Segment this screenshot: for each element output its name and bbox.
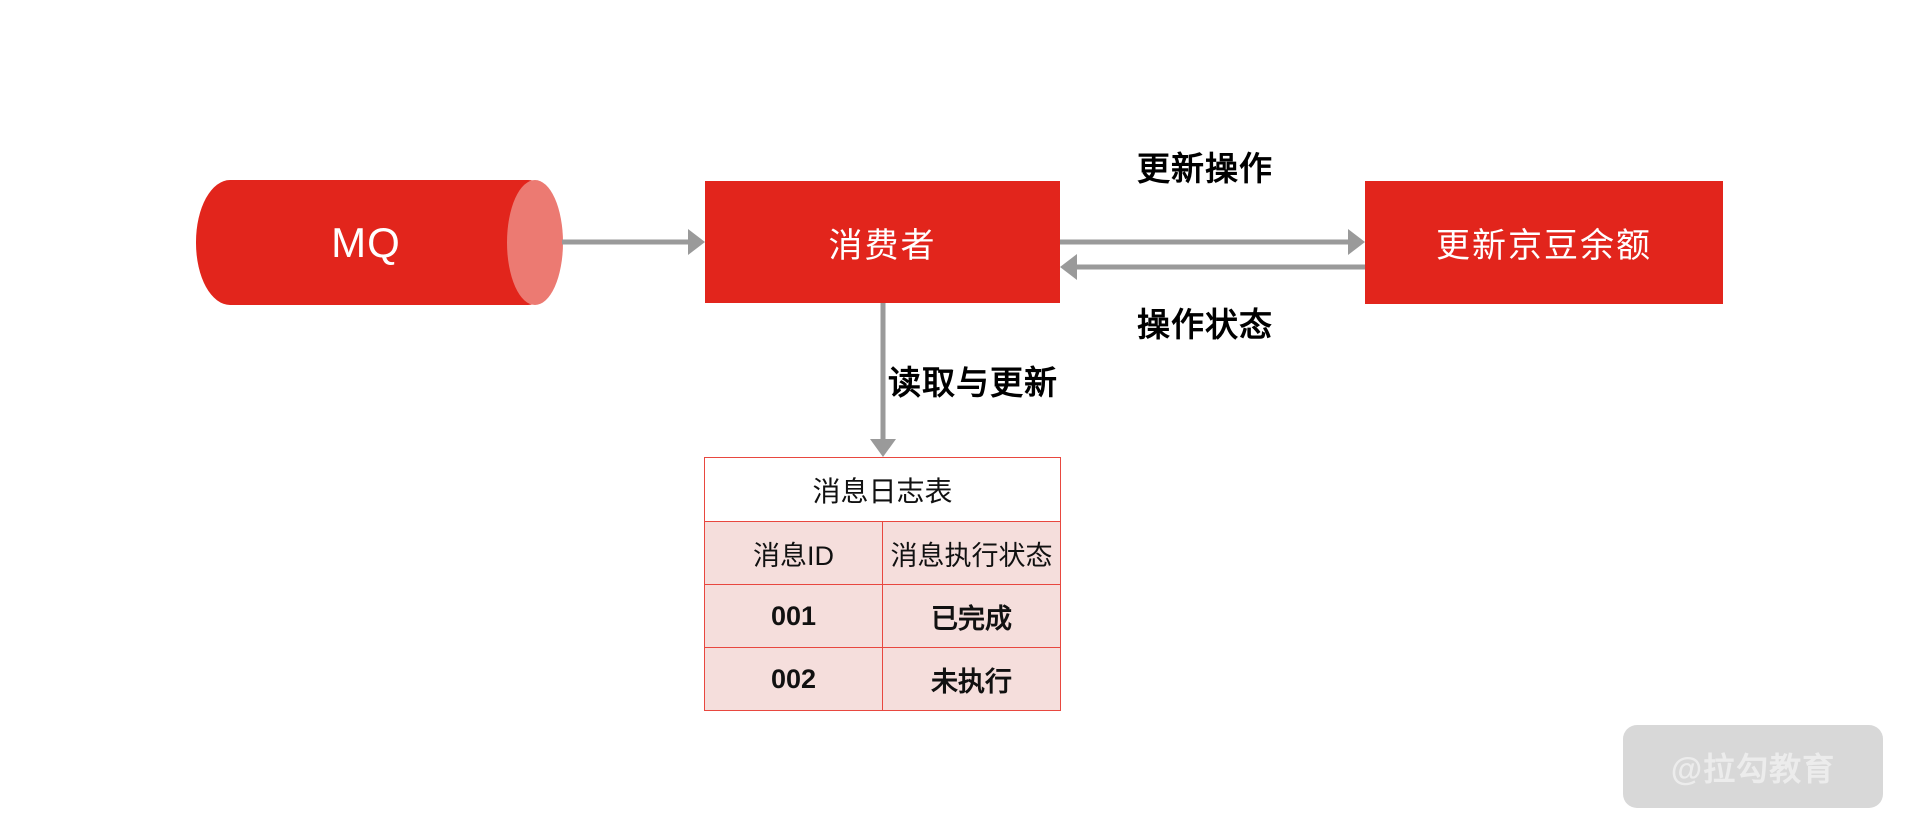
node-update-balance[interactable]: 更新京豆余额: [1365, 181, 1723, 304]
watermark: @拉勾教育: [1623, 725, 1883, 808]
table-cell-message-id: 001: [705, 585, 883, 648]
node-consumer[interactable]: 消费者: [705, 181, 1060, 303]
table-cell-message-status: 已完成: [883, 585, 1061, 648]
message-log-table: 消息日志表 消息ID 消息执行状态 001 已完成 002 未执行: [704, 457, 1061, 711]
table-row: 002 未执行: [705, 648, 1061, 711]
table-header-row: 消息ID 消息执行状态: [705, 522, 1061, 585]
edge-label-update-operation: 更新操作: [1137, 142, 1273, 190]
node-consumer-label: 消费者: [829, 218, 937, 267]
arrow-mq-to-consumer: [560, 222, 710, 262]
arrow-balance-to-consumer: [1060, 249, 1365, 285]
table-row: 001 已完成: [705, 585, 1061, 648]
table-header-message-status: 消息执行状态: [883, 522, 1061, 585]
table-title: 消息日志表: [705, 458, 1061, 522]
edge-label-read-and-update: 读取与更新: [888, 356, 1058, 404]
table-cell-message-status: 未执行: [883, 648, 1061, 711]
table-title-row: 消息日志表: [705, 458, 1061, 522]
node-update-balance-label: 更新京豆余额: [1436, 218, 1652, 267]
table-header-message-id: 消息ID: [705, 522, 883, 585]
diagram-canvas: MQ 消费者 更新京豆余额 更新操作 操作状态 读取与更新 消息日志表 消息ID: [0, 0, 1920, 830]
node-mq[interactable]: MQ: [196, 180, 562, 305]
watermark-label: @拉勾教育: [1671, 744, 1835, 790]
table-cell-message-id: 002: [705, 648, 883, 711]
node-mq-label: MQ: [196, 180, 562, 305]
edge-label-operation-status: 操作状态: [1137, 298, 1273, 346]
